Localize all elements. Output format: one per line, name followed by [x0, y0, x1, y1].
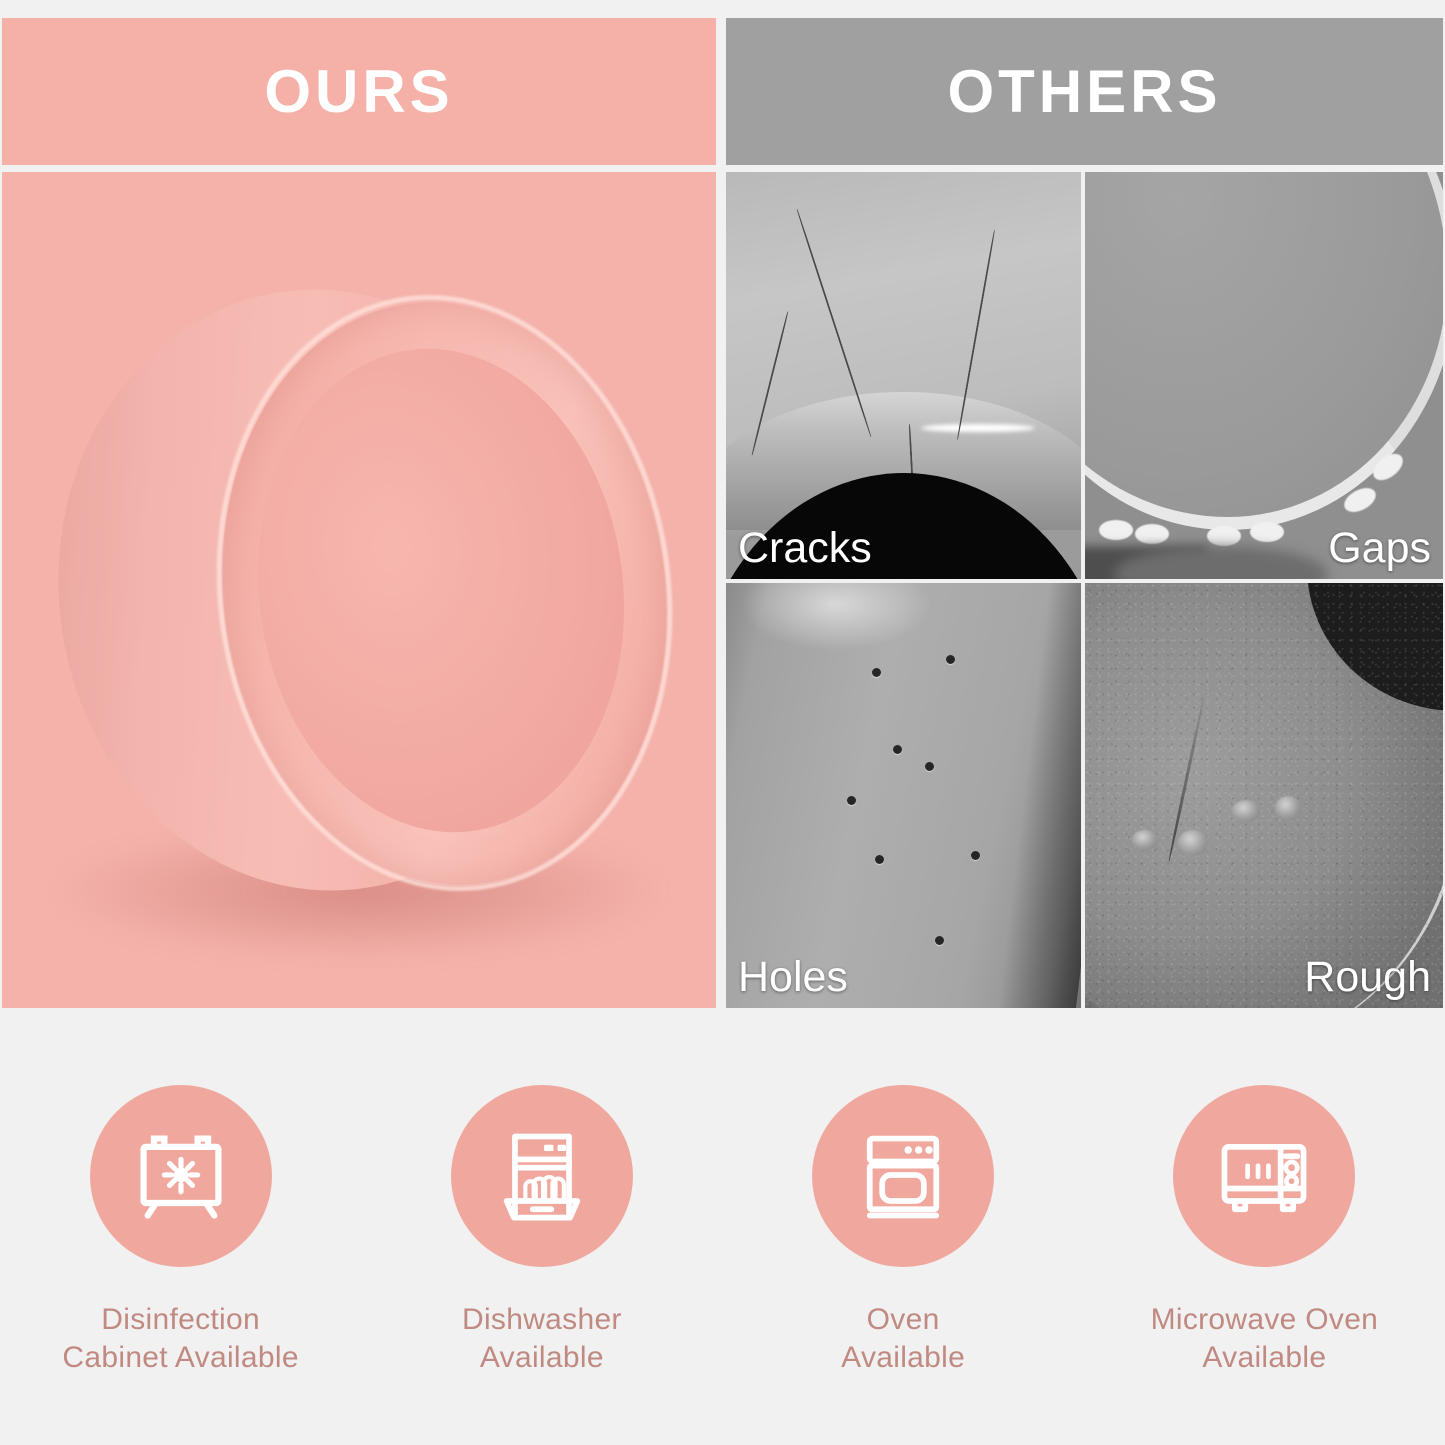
feature-label: Oven Available: [841, 1301, 965, 1378]
comparison-infographic: OURS OTHERS Cracks: [0, 0, 1445, 1445]
pinhole: [872, 668, 881, 677]
rough-blemish: [1178, 830, 1208, 856]
feature-label: Disinfection Cabinet Available: [62, 1301, 298, 1378]
feature-oven: Oven Available: [723, 1085, 1084, 1415]
dishwasher-icon: [490, 1124, 594, 1228]
defect-tile-holes: Holes: [726, 583, 1081, 1008]
microwave-oven-icon: [1212, 1124, 1316, 1228]
feature-icon-badge: [1173, 1085, 1355, 1267]
defect-label-cracks: Cracks: [738, 524, 872, 573]
gap-bump: [1250, 522, 1284, 542]
defect-tile-gaps: Gaps: [1085, 172, 1443, 579]
gap-bump: [1135, 524, 1169, 544]
defect-label-holes: Holes: [738, 953, 848, 1002]
header-others-label: OTHERS: [947, 57, 1221, 126]
competitor-defect-grid: Cracks Gaps Hole: [726, 172, 1443, 1008]
defect-tile-cracks: Cracks: [726, 172, 1081, 579]
pinhole: [925, 762, 934, 771]
rough-texture-grain: [1085, 583, 1443, 1008]
feature-dishwasher: Dishwasher Available: [361, 1085, 722, 1415]
pinhole: [893, 745, 902, 754]
header-ours-label: OURS: [264, 57, 453, 126]
header-ours: OURS: [2, 18, 716, 165]
feature-label: Microwave Oven Available: [1151, 1301, 1379, 1378]
feature-row: Disinfection Cabinet Available: [0, 1085, 1445, 1415]
feature-icon-badge: [451, 1085, 633, 1267]
pinhole: [847, 796, 856, 805]
feature-microwave-oven: Microwave Oven Available: [1084, 1085, 1445, 1415]
feature-icon-badge: [90, 1085, 272, 1267]
our-product-panel: [2, 172, 716, 1008]
feature-disinfection-cabinet: Disinfection Cabinet Available: [0, 1085, 361, 1415]
defect-label-rough: Rough: [1304, 953, 1431, 1002]
disinfection-cabinet-icon: [129, 1124, 233, 1228]
gap-bump: [1099, 520, 1133, 540]
rough-blemish: [1275, 796, 1301, 820]
oven-icon: [851, 1124, 955, 1228]
feature-label: Dishwasher Available: [462, 1301, 622, 1378]
rough-blemish: [1132, 830, 1158, 850]
defect-tile-rough: Rough: [1085, 583, 1443, 1008]
holes-top-highlight: [740, 583, 932, 651]
gap-bump: [1207, 526, 1241, 546]
header-others: OTHERS: [726, 18, 1443, 165]
rough-blemish: [1232, 800, 1260, 822]
pinhole: [971, 851, 980, 860]
defect-label-gaps: Gaps: [1328, 524, 1431, 573]
feature-icon-badge: [812, 1085, 994, 1267]
